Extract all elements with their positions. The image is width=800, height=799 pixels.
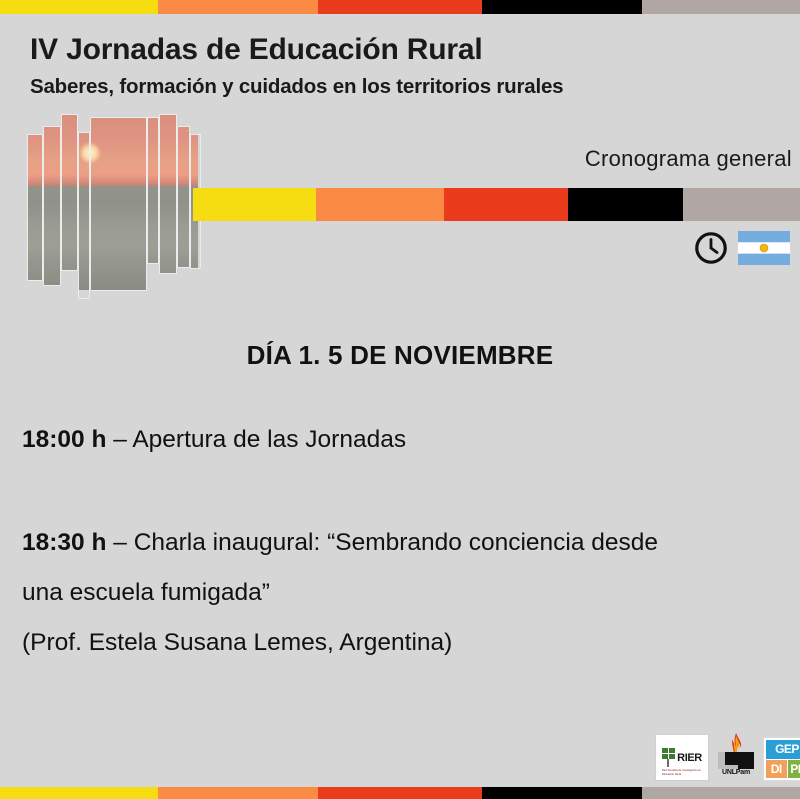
color-segment-orange: [158, 0, 318, 14]
logo-gepdipe: GEP DI PE: [763, 737, 800, 781]
gepdipe-cell-gep: GEP: [766, 740, 800, 759]
schedule-separator: –: [106, 426, 132, 453]
rier-tree-icon: [662, 747, 675, 769]
photo-fragment: [79, 133, 89, 290]
schedule-entry: 18:30 h – Charla inaugural: “Sembrando c…: [22, 518, 782, 668]
color-segment-orange: [316, 188, 445, 221]
middle-color-bar: [193, 188, 800, 221]
top-color-bar: [0, 0, 800, 14]
logo-rier: RIER Red Temática de Investigación en Ed…: [655, 734, 709, 781]
photo-fragment: [160, 115, 176, 273]
color-segment-yellow: [0, 0, 158, 14]
photo-slice: [28, 135, 42, 280]
logo-row: RIER Red Temática de Investigación en Ed…: [655, 733, 800, 781]
schedule-time: 18:30 h: [22, 529, 106, 556]
photo-slice: [148, 118, 158, 263]
section-label: Cronograma general: [585, 146, 792, 172]
color-segment-red: [444, 188, 567, 221]
color-segment-yellow: [0, 787, 158, 799]
logo-unlpam: UNLPam: [715, 733, 757, 781]
schedule-description-cont: una escuela fumigada”: [22, 568, 782, 618]
poster-title: IV Jornadas de Educación Rural: [30, 33, 482, 67]
schedule-line: 18:00 h – Apertura de las Jornadas: [22, 415, 782, 465]
argentina-flag-icon: [738, 231, 790, 265]
photo-fragment: [28, 135, 42, 280]
schedule-line: 18:30 h – Charla inaugural: “Sembrando c…: [22, 518, 782, 568]
rier-wordmark: RIER: [677, 752, 702, 764]
color-segment-red: [318, 787, 481, 799]
photo-slice: [79, 133, 89, 298]
photo-slice: [160, 115, 176, 273]
poster-subtitle: Saberes, formación y cuidados en los ter…: [30, 75, 563, 99]
photo-slice: [178, 127, 189, 267]
color-segment-orange: [158, 787, 318, 799]
color-segment-black: [568, 188, 684, 221]
color-segment-black: [482, 787, 643, 799]
photo-slice: [44, 127, 60, 285]
schedule-description: Apertura de las Jornadas: [132, 426, 406, 453]
rier-tagline: Red Temática de Investigación en Educaci…: [662, 769, 704, 776]
sunset-photo-collage: [28, 115, 198, 290]
bottom-color-bar: [0, 787, 800, 799]
photo-fragment: [44, 127, 60, 285]
photo-slice: [91, 118, 146, 290]
photo-slice: [62, 115, 77, 270]
schedule-description: Charla inaugural: “Sembrando conciencia …: [134, 529, 658, 556]
photo-fragment: [91, 118, 146, 290]
color-segment-black: [482, 0, 643, 14]
unlpam-flame-icon: [716, 733, 756, 769]
color-segment-warm-gray: [642, 0, 800, 14]
gepdipe-cell-di: DI: [766, 760, 787, 779]
color-segment-yellow: [193, 188, 316, 221]
photo-fragment: [62, 115, 77, 270]
icon-row: [694, 231, 790, 265]
schedule-speaker: (Prof. Estela Susana Lemes, Argentina): [22, 618, 782, 668]
clock-icon: [694, 231, 728, 265]
photo-fragment: [178, 127, 189, 267]
color-segment-red: [318, 0, 481, 14]
gepdipe-cell-pe: PE: [788, 760, 800, 779]
color-segment-warm-gray: [683, 188, 800, 221]
color-segment-warm-gray: [642, 787, 800, 799]
schedule-separator: –: [106, 529, 133, 556]
unlpam-mark-svg: [716, 733, 756, 769]
schedule-entry: 18:00 h – Apertura de las Jornadas: [22, 415, 782, 465]
schedule-time: 18:00 h: [22, 426, 106, 453]
rier-lockup: RIER: [662, 747, 702, 769]
unlpam-wordmark: UNLPam: [722, 769, 750, 776]
poster-canvas: IV Jornadas de Educación Rural Saberes, …: [0, 0, 800, 799]
day-heading: DÍA 1. 5 DE NOVIEMBRE: [0, 340, 800, 371]
photo-fragment: [148, 118, 158, 263]
